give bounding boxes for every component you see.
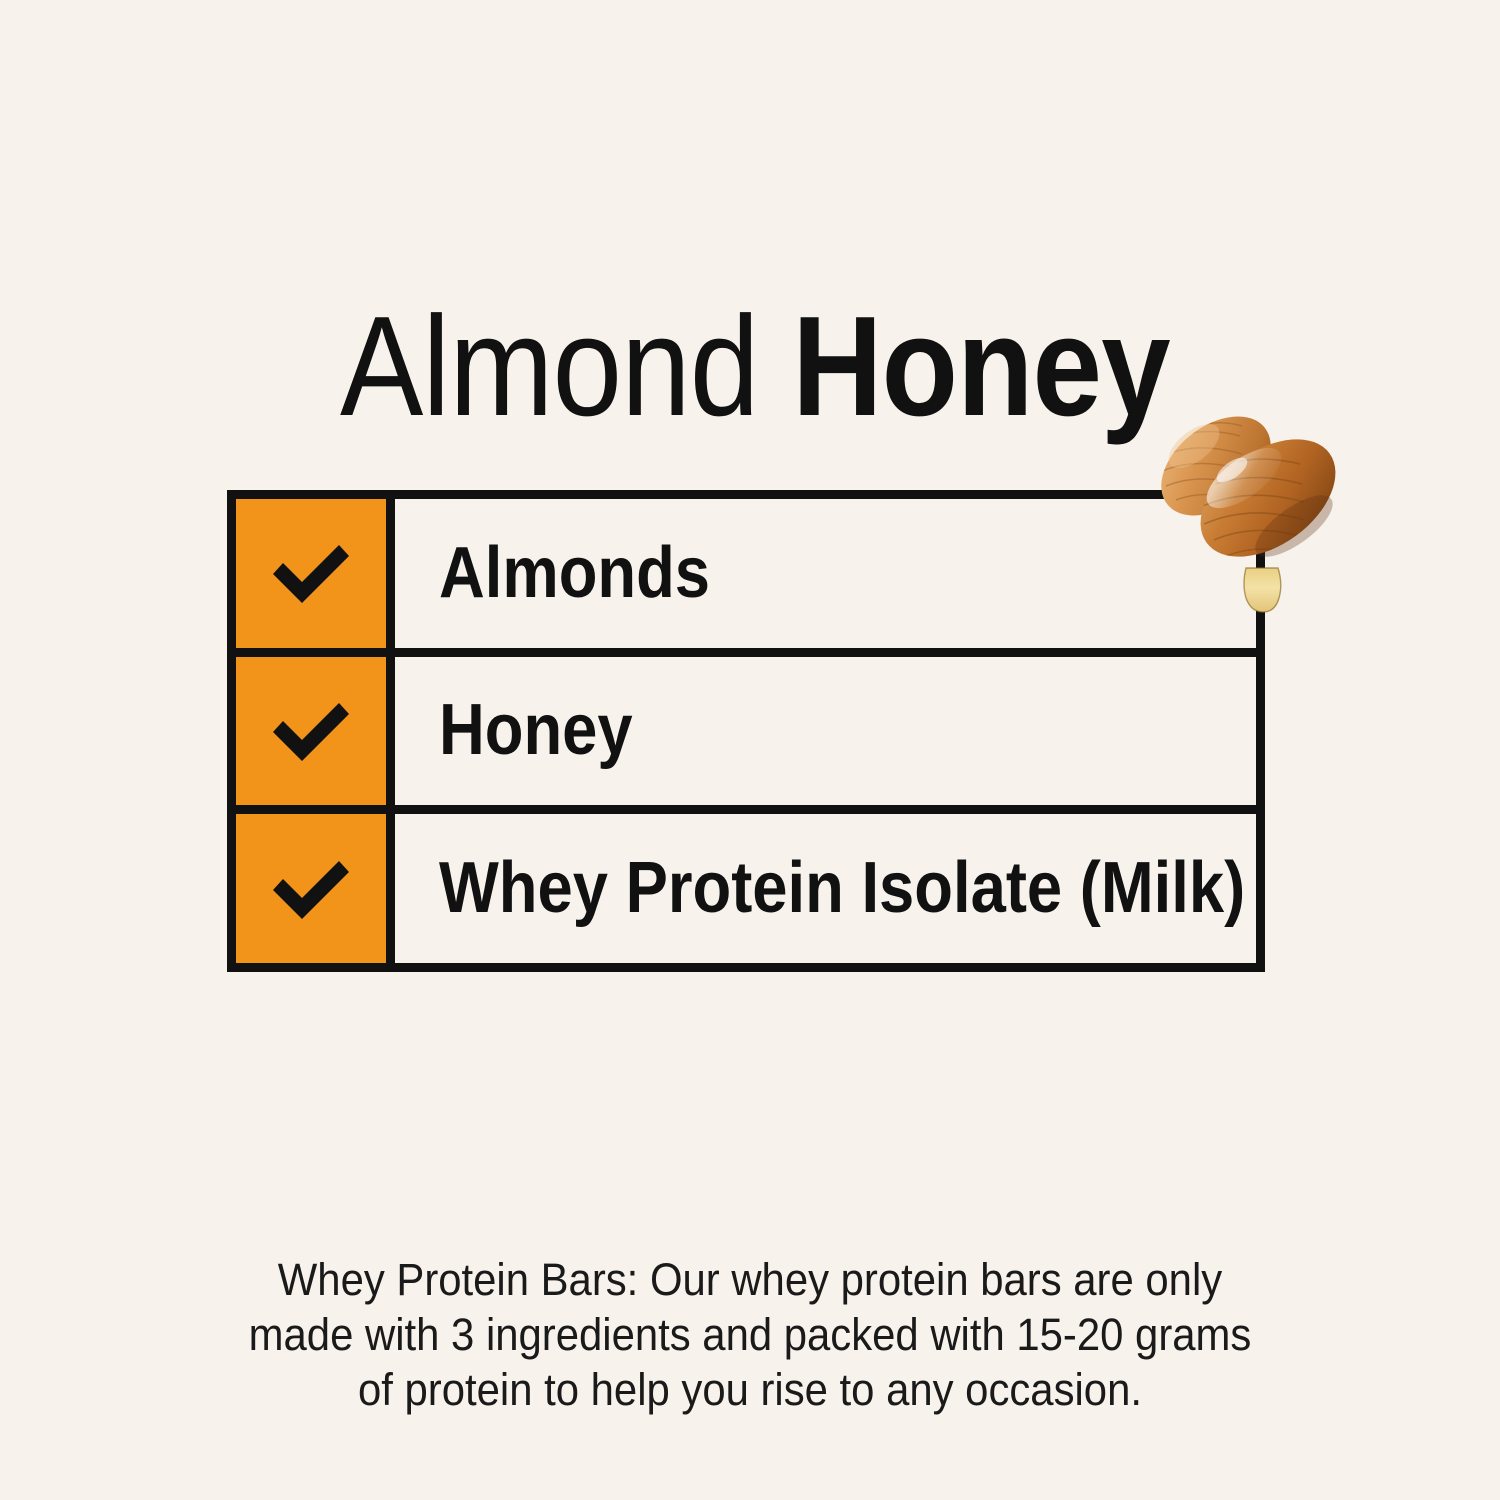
ingredient-label-cell: Almonds <box>395 499 1256 648</box>
ingredient-label: Honey <box>439 693 633 769</box>
table-row: Whey Protein Isolate (Milk) <box>236 814 1256 963</box>
ingredient-label-cell: Honey <box>395 657 1256 806</box>
check-icon <box>269 541 353 605</box>
caption-line: of protein to help you rise to any occas… <box>239 1362 1262 1417</box>
table-row: Honey <box>236 657 1256 815</box>
title-light-word: Almond <box>340 287 792 446</box>
ingredient-label: Almonds <box>439 536 710 612</box>
caption-line: made with 3 ingredients and packed with … <box>239 1307 1262 1362</box>
ingredient-label-cell: Whey Protein Isolate (Milk) <box>395 814 1256 963</box>
title-bold-word: Honey <box>792 287 1170 446</box>
check-icon <box>269 699 353 763</box>
checkbox-cell <box>236 657 395 806</box>
table-row: Almonds <box>236 499 1256 657</box>
product-feature-graphic: Almond Honey Almonds Honey <box>0 0 1500 1500</box>
ingredient-table: Almonds Honey Whey Protein Isolate (Milk… <box>227 490 1265 972</box>
caption-text: Whey Protein Bars: Our whey protein bars… <box>200 1252 1300 1417</box>
check-icon <box>269 857 353 921</box>
checkbox-cell <box>236 814 395 963</box>
checkbox-cell <box>236 499 395 648</box>
caption-line: Whey Protein Bars: Our whey protein bars… <box>239 1252 1262 1307</box>
page-title: Almond Honey <box>340 296 1170 438</box>
ingredient-label: Whey Protein Isolate (Milk) <box>439 851 1245 927</box>
